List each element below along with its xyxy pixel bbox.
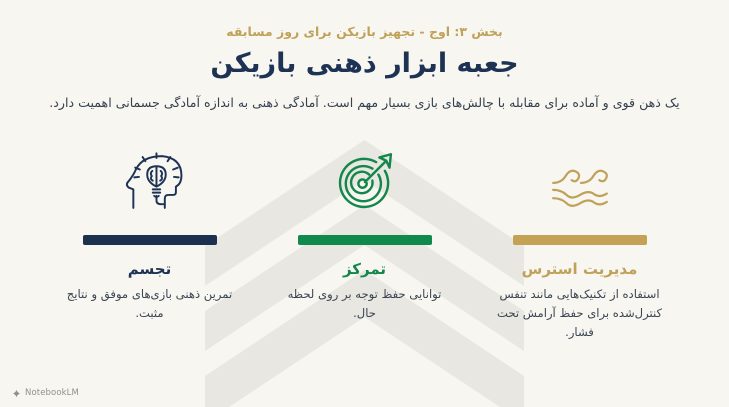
footer-brand-label: NotebookLM — [25, 388, 79, 398]
feature-title-focus: تمرکز — [343, 260, 386, 279]
accent-bar-focus — [298, 235, 432, 245]
feature-columns: تجسم تمرین ذهنی بازی‌های موفق و نتایج مث… — [0, 141, 729, 341]
feature-column-stress-management: مدیریت استرس استفاده از تکنیک‌هایی مانند… — [472, 141, 687, 341]
target-arrow-icon — [328, 141, 402, 223]
slide-header: بخش ۳: اوج - تجهیز بازیکن برای روز مسابق… — [0, 0, 729, 115]
feature-title-stress-management: مدیریت استرس — [522, 260, 638, 279]
footer-brand: NotebookLM — [12, 388, 79, 398]
waves-icon — [543, 141, 617, 223]
feature-description-focus: توانایی حفظ توجه بر روی لحظه حال. — [276, 285, 454, 323]
head-lightbulb-brain-icon — [113, 141, 187, 223]
accent-bar-visualization — [83, 235, 217, 245]
page-title: جعبه ابزار ذهنی بازیکن — [0, 48, 729, 80]
page-subtitle: یک ذهن قوی و آماده برای مقابله با چالش‌ه… — [45, 94, 685, 115]
feature-title-visualization: تجسم — [128, 260, 171, 279]
feature-description-visualization: تمرین ذهنی بازی‌های موفق و نتایج مثبت. — [61, 285, 239, 323]
accent-bar-stress-management — [513, 235, 647, 245]
notebooklm-logo-icon — [12, 389, 21, 398]
section-kicker: بخش ۳: اوج - تجهیز بازیکن برای روز مسابق… — [0, 24, 729, 39]
feature-column-focus: تمرکز توانایی حفظ توجه بر روی لحظه حال. — [257, 141, 472, 322]
feature-description-stress-management: استفاده از تکنیک‌هایی مانند تنفس کنترل‌ش… — [491, 285, 669, 341]
slide-canvas: بخش ۳: اوج - تجهیز بازیکن برای روز مسابق… — [0, 0, 729, 407]
feature-column-visualization: تجسم تمرین ذهنی بازی‌های موفق و نتایج مث… — [42, 141, 257, 322]
